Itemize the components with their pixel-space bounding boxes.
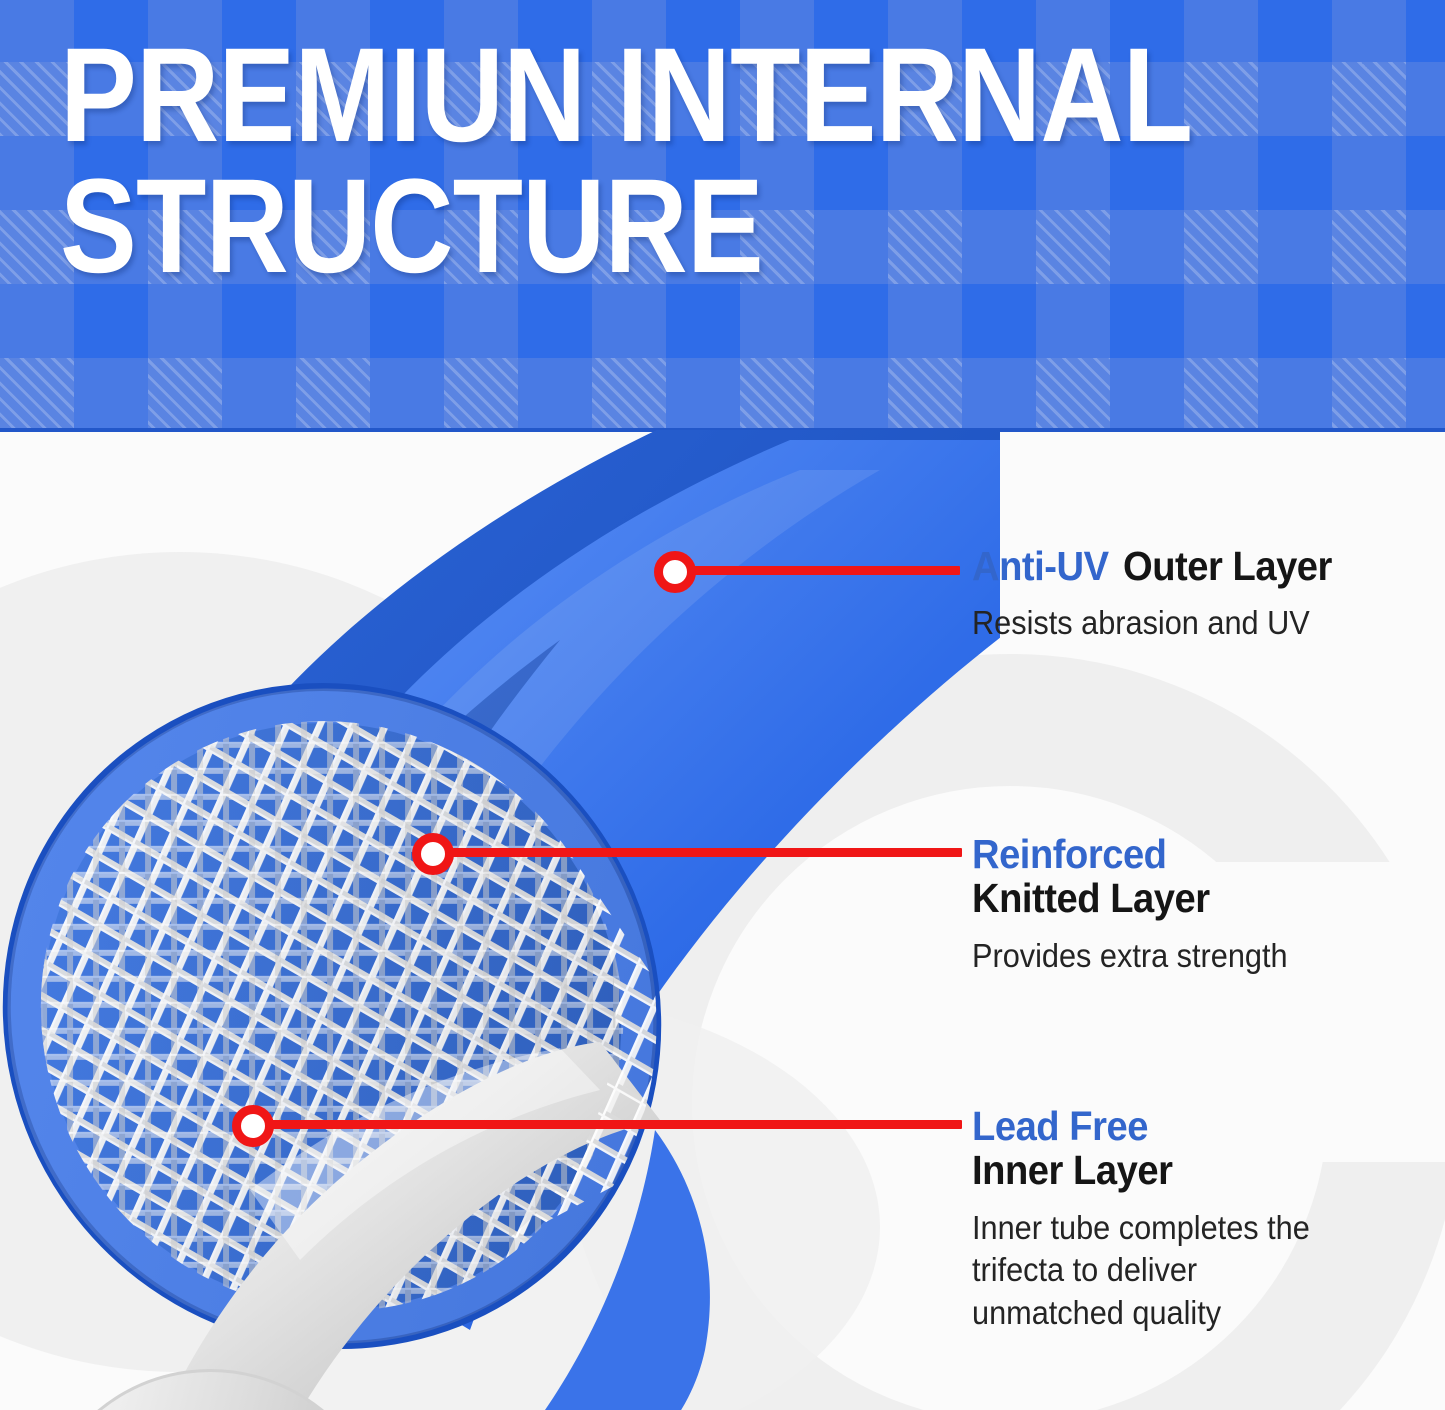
leader-line-2 [438,848,962,857]
callout-1-title: Outer Layer [1123,544,1332,588]
header-banner: PREMIUN INTERNAL STRUCTURE [0,0,1445,432]
callout-2-kicker: Reinforced [972,832,1400,876]
marker-dot-2 [412,833,454,875]
callout-3-kicker: Lead Free [972,1104,1381,1148]
marker-dot-1 [654,551,696,593]
callout-reinforced-knitted-layer: Reinforced Knitted Layer Provides extra … [972,832,1432,977]
hose-cutaway-illustration [0,430,1000,1410]
callout-anti-uv-outer-layer: Anti-UV Outer Layer Resists abrasion and… [972,544,1432,645]
callout-2-description: Provides extra strength [972,935,1400,978]
callout-lead-free-inner-layer: Lead Free Inner Layer Inner tube complet… [972,1104,1412,1335]
callout-3-description: Inner tube completes the trifecta to del… [972,1207,1381,1336]
page-title: PREMIUN INTERNAL STRUCTURE [60,30,1230,293]
leader-line-3 [258,1120,962,1129]
callout-1-headline: Anti-UV Outer Layer [972,544,1432,588]
callout-1-description: Resists abrasion and UV [972,602,1400,645]
callout-3-title: Inner Layer [972,1148,1381,1192]
callout-2-title: Knitted Layer [972,876,1400,920]
infographic-page: PREMIUN INTERNAL STRUCTURE [0,0,1445,1410]
marker-dot-3 [232,1105,274,1147]
leader-line-1 [680,566,960,575]
callout-1-kicker: Anti-UV [972,544,1109,588]
